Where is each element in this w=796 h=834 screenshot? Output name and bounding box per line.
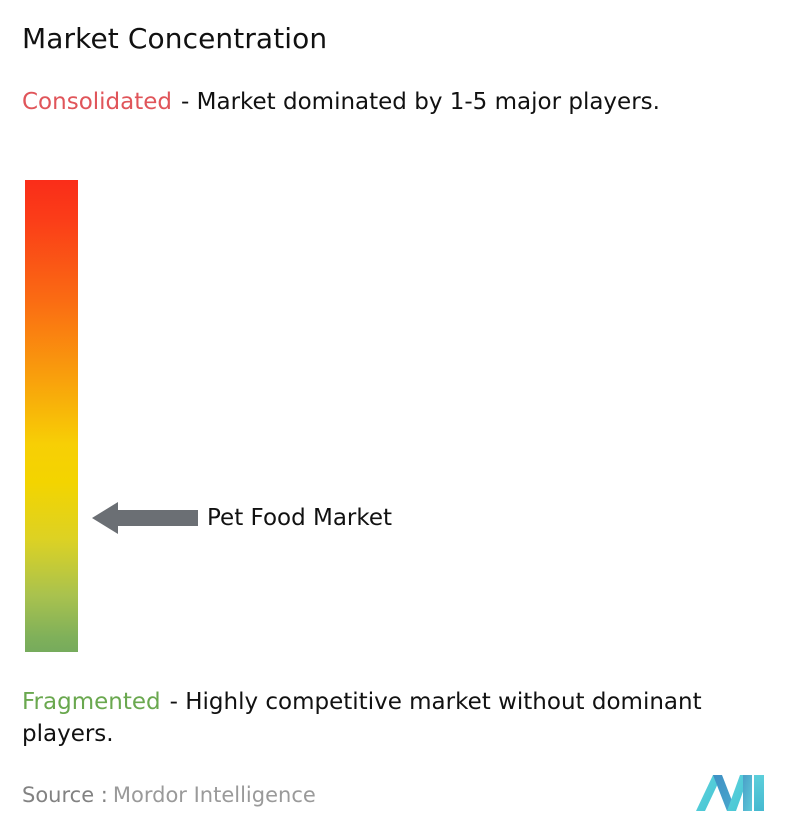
market-position-label: Pet Food Market (207, 503, 392, 533)
legend-description-consolidated: - Market dominated by 1-5 major players. (181, 89, 660, 115)
arrow-left-icon (92, 499, 198, 537)
market-position-marker: Pet Food Market (92, 499, 392, 537)
page-title: Market Concentration (22, 20, 327, 58)
source-label: Source : (22, 783, 108, 807)
source-name: Mordor Intelligence (113, 783, 316, 807)
concentration-gradient-bar (25, 180, 78, 652)
legend-term-fragmented: Fragmented (22, 689, 161, 715)
legend-term-consolidated: Consolidated (22, 89, 172, 115)
source-attribution: Source :Mordor Intelligence (22, 781, 316, 809)
legend-consolidated: Consolidated- Market dominated by 1-5 ma… (22, 86, 778, 118)
mordor-intelligence-logo-icon (696, 771, 766, 813)
legend-fragmented: Fragmented- Highly competitive market wi… (22, 686, 788, 750)
